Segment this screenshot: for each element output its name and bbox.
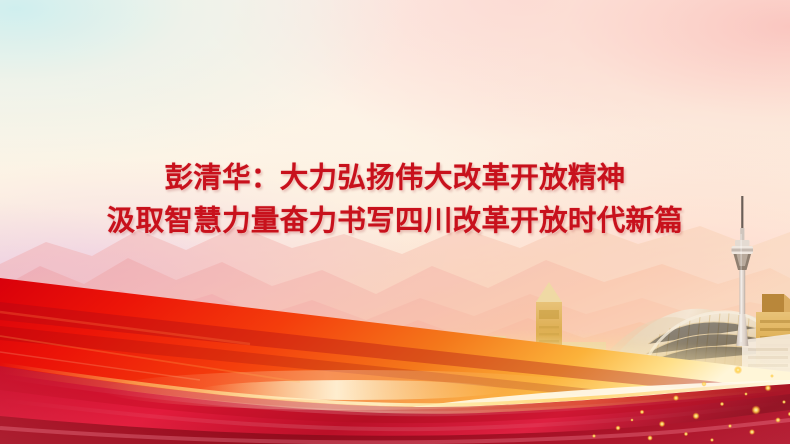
- bokeh-particles: [490, 354, 790, 444]
- poster-canvas: 彭清华：大力弘扬伟大改革开放精神 汲取智慧力量奋力书写四川改革开放时代新篇: [0, 0, 790, 444]
